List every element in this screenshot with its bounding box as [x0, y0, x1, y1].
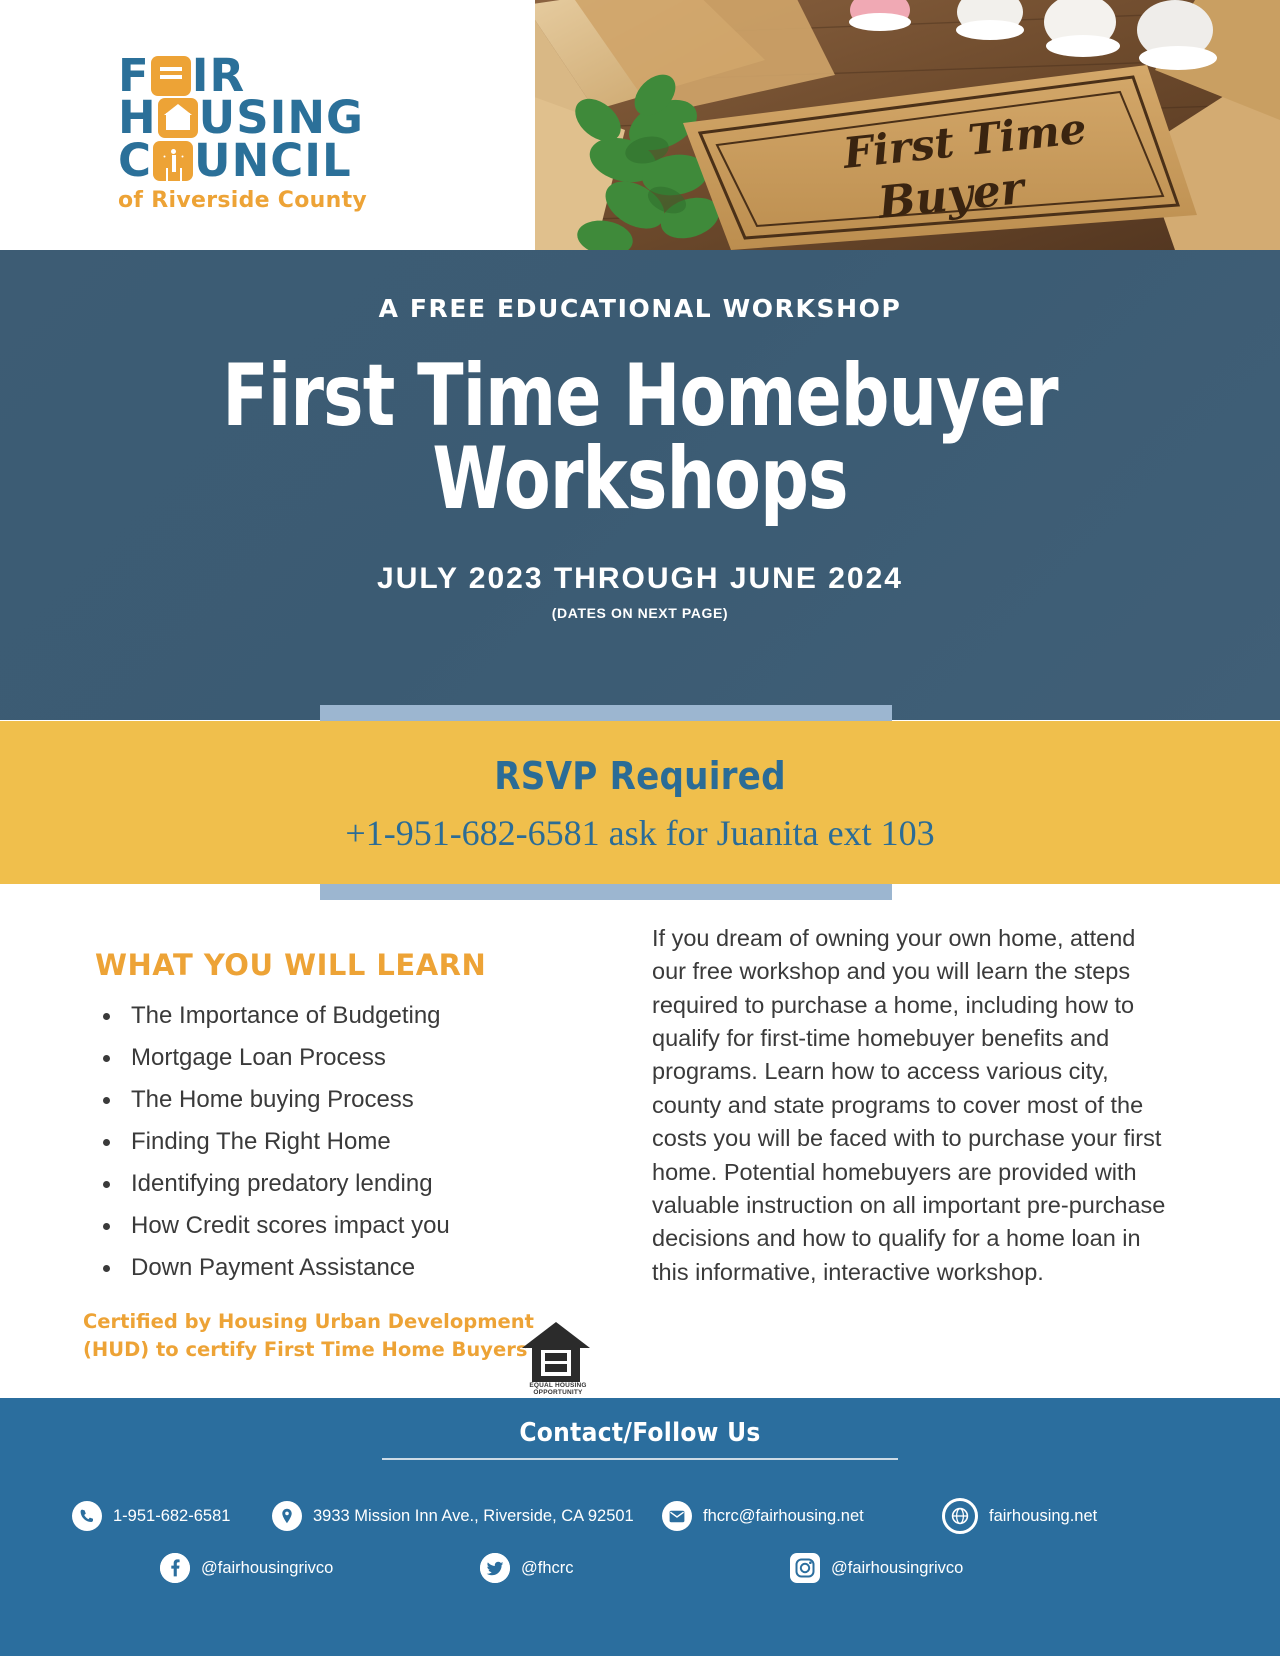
hero-title-line-2: Workshops: [77, 438, 1203, 521]
content-section: WHAT YOU WILL LEARN The Importance of Bu…: [0, 900, 1280, 1398]
footer-row-contact: 1-951-682-6581 3933 Mission Inn Ave., Ri…: [72, 1498, 1212, 1534]
rsvp-band: RSVP Required +1-951-682-6581 ask for Ju…: [0, 721, 1280, 884]
footer-twitter-text: @fhcrc: [521, 1559, 574, 1578]
footer-row-social: @fairhousingrivco @fhcrc @fairhousingriv…: [160, 1553, 1210, 1583]
hero-dates-note: (DATES ON NEXT PAGE): [0, 605, 1280, 621]
learn-column: WHAT YOU WILL LEARN The Importance of Bu…: [75, 948, 595, 1365]
footer-instagram-item[interactable]: @fairhousingrivco: [790, 1553, 1110, 1583]
footer-twitter-item[interactable]: @fhcrc: [480, 1553, 790, 1583]
list-item: The Home buying Process: [75, 1088, 595, 1112]
footer-phone-item[interactable]: 1-951-682-6581: [72, 1501, 272, 1531]
footer-website-item[interactable]: fairhousing.net: [942, 1498, 1192, 1534]
location-pin-icon: [272, 1501, 302, 1531]
footer-divider: [382, 1458, 898, 1460]
hero-photo-first-time-buyer-doormat: First Time Buyer: [535, 0, 1280, 250]
hero-title: First Time Homebuyer Workshops: [77, 355, 1203, 522]
list-item: Identifying predatory lending: [75, 1172, 595, 1196]
flyer-header: FIR HUSING CUNCIL of Riverside County: [0, 0, 1280, 250]
envelope-icon: [662, 1501, 692, 1531]
list-item: Down Payment Assistance: [75, 1256, 595, 1280]
facebook-icon: [160, 1553, 190, 1583]
hero-eyebrow: A FREE EDUCATIONAL WORKSHOP: [0, 294, 1280, 323]
hud-certification-note: Certified by Housing Urban Development (…: [83, 1308, 553, 1365]
footer-website-text: fairhousing.net: [989, 1507, 1097, 1526]
logo-text-c: C: [118, 134, 152, 187]
equal-housing-caption: EQUAL HOUSING OPPORTUNITY: [518, 1382, 598, 1397]
footer-address-item[interactable]: 3933 Mission Inn Ave., Riverside, CA 925…: [272, 1501, 662, 1531]
footer-phone-text: 1-951-682-6581: [113, 1507, 230, 1526]
list-item: Mortgage Loan Process: [75, 1046, 595, 1070]
phone-icon: [72, 1501, 102, 1531]
hero-date-range: JULY 2023 THROUGH JUNE 2024: [0, 562, 1280, 596]
logo-subtitle: of Riverside County: [118, 188, 418, 213]
accent-bar-top: [320, 705, 892, 721]
footer-instagram-text: @fairhousingrivco: [831, 1559, 963, 1578]
logo-text-uncil: UNCIL: [194, 134, 352, 187]
twitter-icon: [480, 1553, 510, 1583]
instagram-icon: [790, 1553, 820, 1583]
description-paragraph: If you dream of owning your own home, at…: [652, 922, 1172, 1289]
learn-list: The Importance of Budgeting Mortgage Loa…: [75, 1004, 595, 1280]
eho-caption-line-2: OPPORTUNITY: [518, 1389, 598, 1396]
logo-a-glyph-icon: [151, 56, 191, 96]
logo-house-icon: [158, 98, 198, 138]
footer-contact-section: Contact/Follow Us 1-951-682-6581 3933 Mi…: [0, 1398, 1280, 1656]
footer-email-item[interactable]: fhcrc@fairhousing.net: [662, 1501, 942, 1531]
logo-line-council: CUNCIL: [118, 140, 418, 182]
equal-housing-opportunity-icon: [520, 1320, 592, 1384]
globe-icon: [942, 1498, 978, 1534]
footer-facebook-item[interactable]: @fairhousingrivco: [160, 1553, 480, 1583]
logo-person-icon: [153, 141, 193, 181]
organization-logo: FIR HUSING CUNCIL of Riverside County: [118, 55, 418, 220]
footer-title: Contact/Follow Us: [0, 1398, 1280, 1448]
list-item: How Credit scores impact you: [75, 1214, 595, 1238]
footer-email-text: fhcrc@fairhousing.net: [703, 1507, 864, 1526]
hero-section: A FREE EDUCATIONAL WORKSHOP First Time H…: [0, 250, 1280, 720]
hud-note-line-2: (HUD) to certify First Time Home Buyers: [83, 1336, 553, 1364]
eho-caption-line-1: EQUAL HOUSING: [518, 1382, 598, 1389]
accent-bar-bottom: [320, 884, 892, 900]
footer-facebook-text: @fairhousingrivco: [201, 1559, 333, 1578]
learn-heading: WHAT YOU WILL LEARN: [95, 948, 595, 982]
hud-note-line-1: Certified by Housing Urban Development: [83, 1308, 553, 1336]
list-item: Finding The Right Home: [75, 1130, 595, 1154]
footer-address-text: 3933 Mission Inn Ave., Riverside, CA 925…: [313, 1507, 634, 1526]
rsvp-phone-line[interactable]: +1-951-682-6581 ask for Juanita ext 103: [0, 812, 1280, 854]
rsvp-title: RSVP Required: [0, 754, 1280, 798]
list-item: The Importance of Budgeting: [75, 1004, 595, 1028]
hero-title-line-1: First Time Homebuyer: [77, 355, 1203, 438]
